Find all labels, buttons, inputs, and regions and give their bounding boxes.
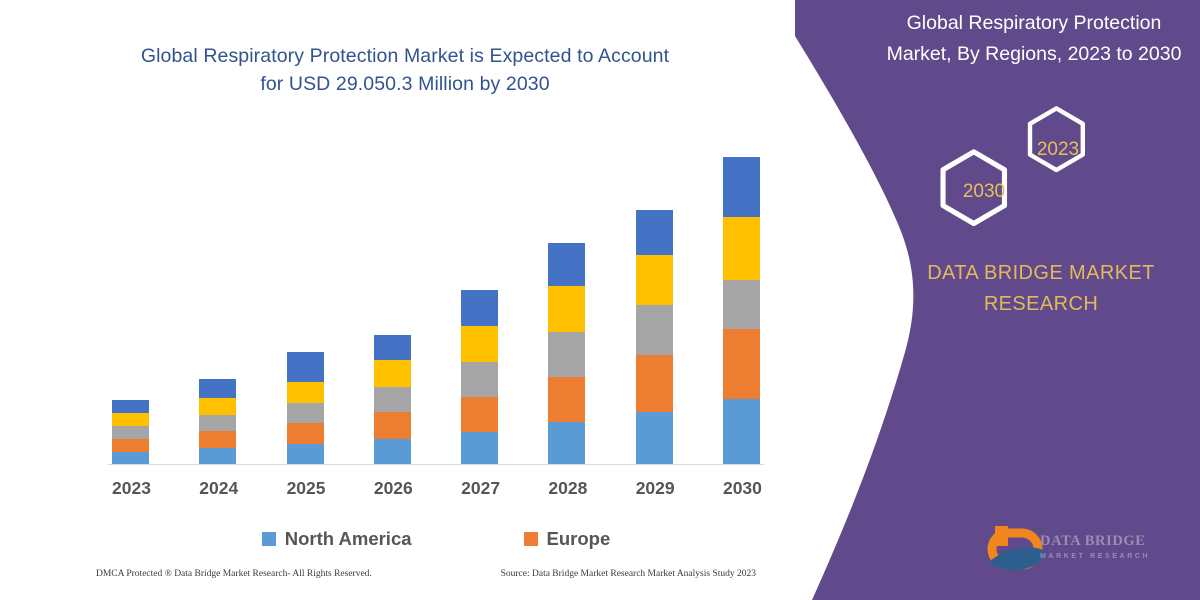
bar-segment-2024-series-4[interactable] <box>199 398 236 415</box>
hexagon-badges <box>920 106 1110 236</box>
bar-segment-2027-north-america[interactable] <box>461 432 498 465</box>
legend-swatch-north-america <box>262 532 276 546</box>
bar-segment-2029-series-5[interactable] <box>636 210 673 255</box>
bar-segment-2029-north-america[interactable] <box>636 412 673 465</box>
bar-segment-2030-series-4[interactable] <box>723 217 760 280</box>
x-axis-label-2027: 2027 <box>461 478 498 499</box>
bar-segment-2028-series-4[interactable] <box>548 286 585 332</box>
panel-title-line-2: Market, By Regions, 2023 to 2030 <box>876 39 1192 70</box>
bar-segment-2028-series-5[interactable] <box>548 243 585 286</box>
bar-group <box>112 152 760 465</box>
x-axis-label-2023: 2023 <box>112 478 149 499</box>
bar-segment-2027-europe[interactable] <box>461 397 498 432</box>
footer: DMCA Protected ® Data Bridge Market Rese… <box>0 569 790 579</box>
x-axis-label-2029: 2029 <box>636 478 673 499</box>
chart-title-line-2: for USD 29.050.3 Million by 2030 <box>60 70 750 98</box>
bar-segment-2027-series-5[interactable] <box>461 290 498 326</box>
bar-segment-2025-series-5[interactable] <box>287 352 324 382</box>
bar-segment-2024-series-5[interactable] <box>199 379 236 398</box>
bar-segment-2025-series-3[interactable] <box>287 403 324 423</box>
bar-segment-2029-series-4[interactable] <box>636 255 673 305</box>
legend-item-europe[interactable]: Europe <box>524 528 611 550</box>
bar-2024[interactable] <box>199 379 236 465</box>
panel-title: Global Respiratory Protection Market, By… <box>876 8 1192 70</box>
logo-bridge-swoosh <box>989 547 1047 570</box>
x-axis-label-2025: 2025 <box>287 478 324 499</box>
bar-segment-2029-europe[interactable] <box>636 355 673 412</box>
bar-segment-2026-series-5[interactable] <box>374 335 411 360</box>
x-axis-label-2028: 2028 <box>548 478 585 499</box>
x-axis-line <box>108 464 764 465</box>
bar-segment-2028-series-3[interactable] <box>548 332 585 377</box>
panel-title-line-1: Global Respiratory Protection <box>876 8 1192 39</box>
bar-segment-2026-series-4[interactable] <box>374 360 411 387</box>
bar-segment-2030-series-5[interactable] <box>723 157 760 217</box>
hexagon-label-2030: 2030 <box>948 181 1020 203</box>
x-axis-labels: 20232024202520262027202820292030 <box>112 478 760 499</box>
bar-segment-2024-series-3[interactable] <box>199 415 236 431</box>
legend-label-north-america: North America <box>285 528 412 550</box>
chart-legend: North America Europe <box>112 528 760 550</box>
brand-name: DATA BRIDGE MARKET RESEARCH <box>896 258 1186 320</box>
logo-wordmark-line-1: DATA BRIDGE <box>1040 533 1190 550</box>
stacked-bar-chart <box>112 150 760 465</box>
bar-segment-2030-north-america[interactable] <box>723 399 760 465</box>
brand-line-2: RESEARCH <box>896 289 1186 320</box>
bar-segment-2023-europe[interactable] <box>112 439 149 452</box>
bar-2028[interactable] <box>548 243 585 465</box>
bar-segment-2026-north-america[interactable] <box>374 439 411 465</box>
x-axis-label-2024: 2024 <box>199 478 236 499</box>
bar-segment-2028-europe[interactable] <box>548 377 585 422</box>
hexagon-label-2023: 2023 <box>1022 139 1094 161</box>
footer-source-text: Source: Data Bridge Market Research Mark… <box>501 569 756 579</box>
bar-2026[interactable] <box>374 335 411 465</box>
bar-segment-2025-series-4[interactable] <box>287 382 324 403</box>
bar-segment-2030-series-3[interactable] <box>723 280 760 329</box>
logo-wordmark-line-2: MARKET RESEARCH <box>1040 553 1190 560</box>
x-axis-label-2026: 2026 <box>374 478 411 499</box>
bar-segment-2026-series-3[interactable] <box>374 387 411 412</box>
bar-segment-2029-series-3[interactable] <box>636 305 673 355</box>
bar-segment-2030-europe[interactable] <box>723 329 760 399</box>
bar-2029[interactable] <box>636 210 673 465</box>
x-axis-label-2030: 2030 <box>723 478 760 499</box>
legend-item-north-america[interactable]: North America <box>262 528 412 550</box>
bar-segment-2023-series-4[interactable] <box>112 413 149 426</box>
bar-segment-2028-north-america[interactable] <box>548 422 585 465</box>
bar-segment-2024-europe[interactable] <box>199 431 236 448</box>
bar-2030[interactable] <box>723 157 760 465</box>
logo-wordmark: DATA BRIDGE MARKET RESEARCH <box>1040 533 1190 560</box>
bar-2027[interactable] <box>461 290 498 465</box>
footer-dmca-text: DMCA Protected ® Data Bridge Market Rese… <box>96 569 372 579</box>
chart-title: Global Respiratory Protection Market is … <box>60 42 750 98</box>
bar-segment-2024-north-america[interactable] <box>199 448 236 465</box>
bar-segment-2025-north-america[interactable] <box>287 444 324 465</box>
infographic: Global Respiratory Protection Market is … <box>0 0 1200 600</box>
bar-segment-2025-europe[interactable] <box>287 423 324 444</box>
legend-label-europe: Europe <box>547 528 611 550</box>
legend-swatch-europe <box>524 532 538 546</box>
brand-line-1: DATA BRIDGE MARKET <box>896 258 1186 289</box>
bar-segment-2026-europe[interactable] <box>374 412 411 439</box>
bar-segment-2023-series-3[interactable] <box>112 426 149 439</box>
bar-segment-2027-series-4[interactable] <box>461 326 498 362</box>
chart-title-line-1: Global Respiratory Protection Market is … <box>60 42 750 70</box>
bar-segment-2023-series-5[interactable] <box>112 400 149 413</box>
bar-2023[interactable] <box>112 400 149 465</box>
bar-segment-2027-series-3[interactable] <box>461 362 498 397</box>
bar-2025[interactable] <box>287 352 324 465</box>
